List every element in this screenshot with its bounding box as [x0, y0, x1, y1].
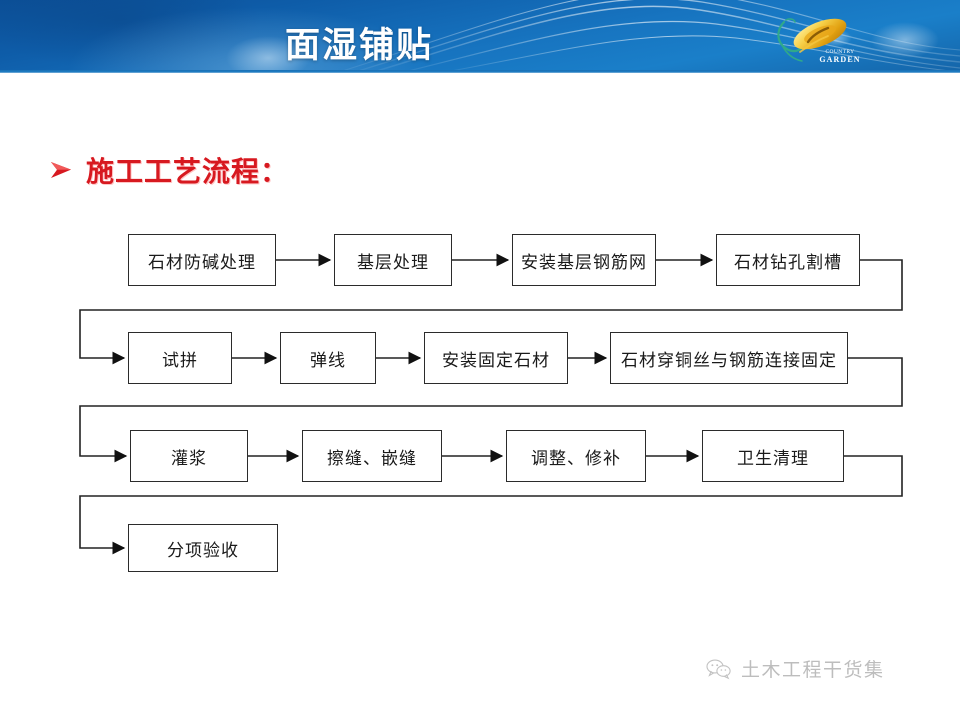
wechat-bubble-icon	[706, 658, 732, 680]
flow-node: 石材钻孔割槽	[716, 234, 860, 286]
logo-line-2: GARDEN	[808, 56, 872, 63]
flow-node: 调整、修补	[506, 430, 646, 482]
flow-node: 基层处理	[334, 234, 452, 286]
page-title: 面湿铺贴	[285, 17, 433, 68]
watermark-text: 土木工程干货集	[741, 655, 885, 682]
flow-node: 石材防碱处理	[128, 234, 276, 286]
section-title: 施工工艺流程：	[86, 150, 289, 190]
country-garden-logo: COUNTRY GARDEN	[762, 12, 880, 68]
flow-node: 分项验收	[128, 524, 278, 572]
slide-root: 面湿铺贴 COUNT	[0, 0, 960, 720]
logo-wordmark: COUNTRY GARDEN	[808, 49, 872, 63]
section-heading: 施工工艺流程：	[48, 150, 289, 190]
header-underline	[0, 70, 960, 73]
process-flowchart: 石材防碱处理基层处理安装基层钢筋网石材钻孔割槽试拼弹线安装固定石材石材穿铜丝与钢…	[0, 0, 960, 720]
flow-node: 安装基层钢筋网	[512, 234, 656, 286]
flow-node: 安装固定石材	[424, 332, 568, 384]
flow-node: 弹线	[280, 332, 376, 384]
red-arrow-bullet-icon	[48, 157, 74, 183]
flow-node: 擦缝、嵌缝	[302, 430, 442, 482]
footer-watermark: 土木工程干货集	[706, 655, 885, 682]
flow-node: 卫生清理	[702, 430, 844, 482]
header-banner: 面湿铺贴 COUNT	[0, 0, 960, 73]
flow-node: 试拼	[128, 332, 232, 384]
flow-node: 石材穿铜丝与钢筋连接固定	[610, 332, 848, 384]
flow-node: 灌浆	[130, 430, 248, 482]
